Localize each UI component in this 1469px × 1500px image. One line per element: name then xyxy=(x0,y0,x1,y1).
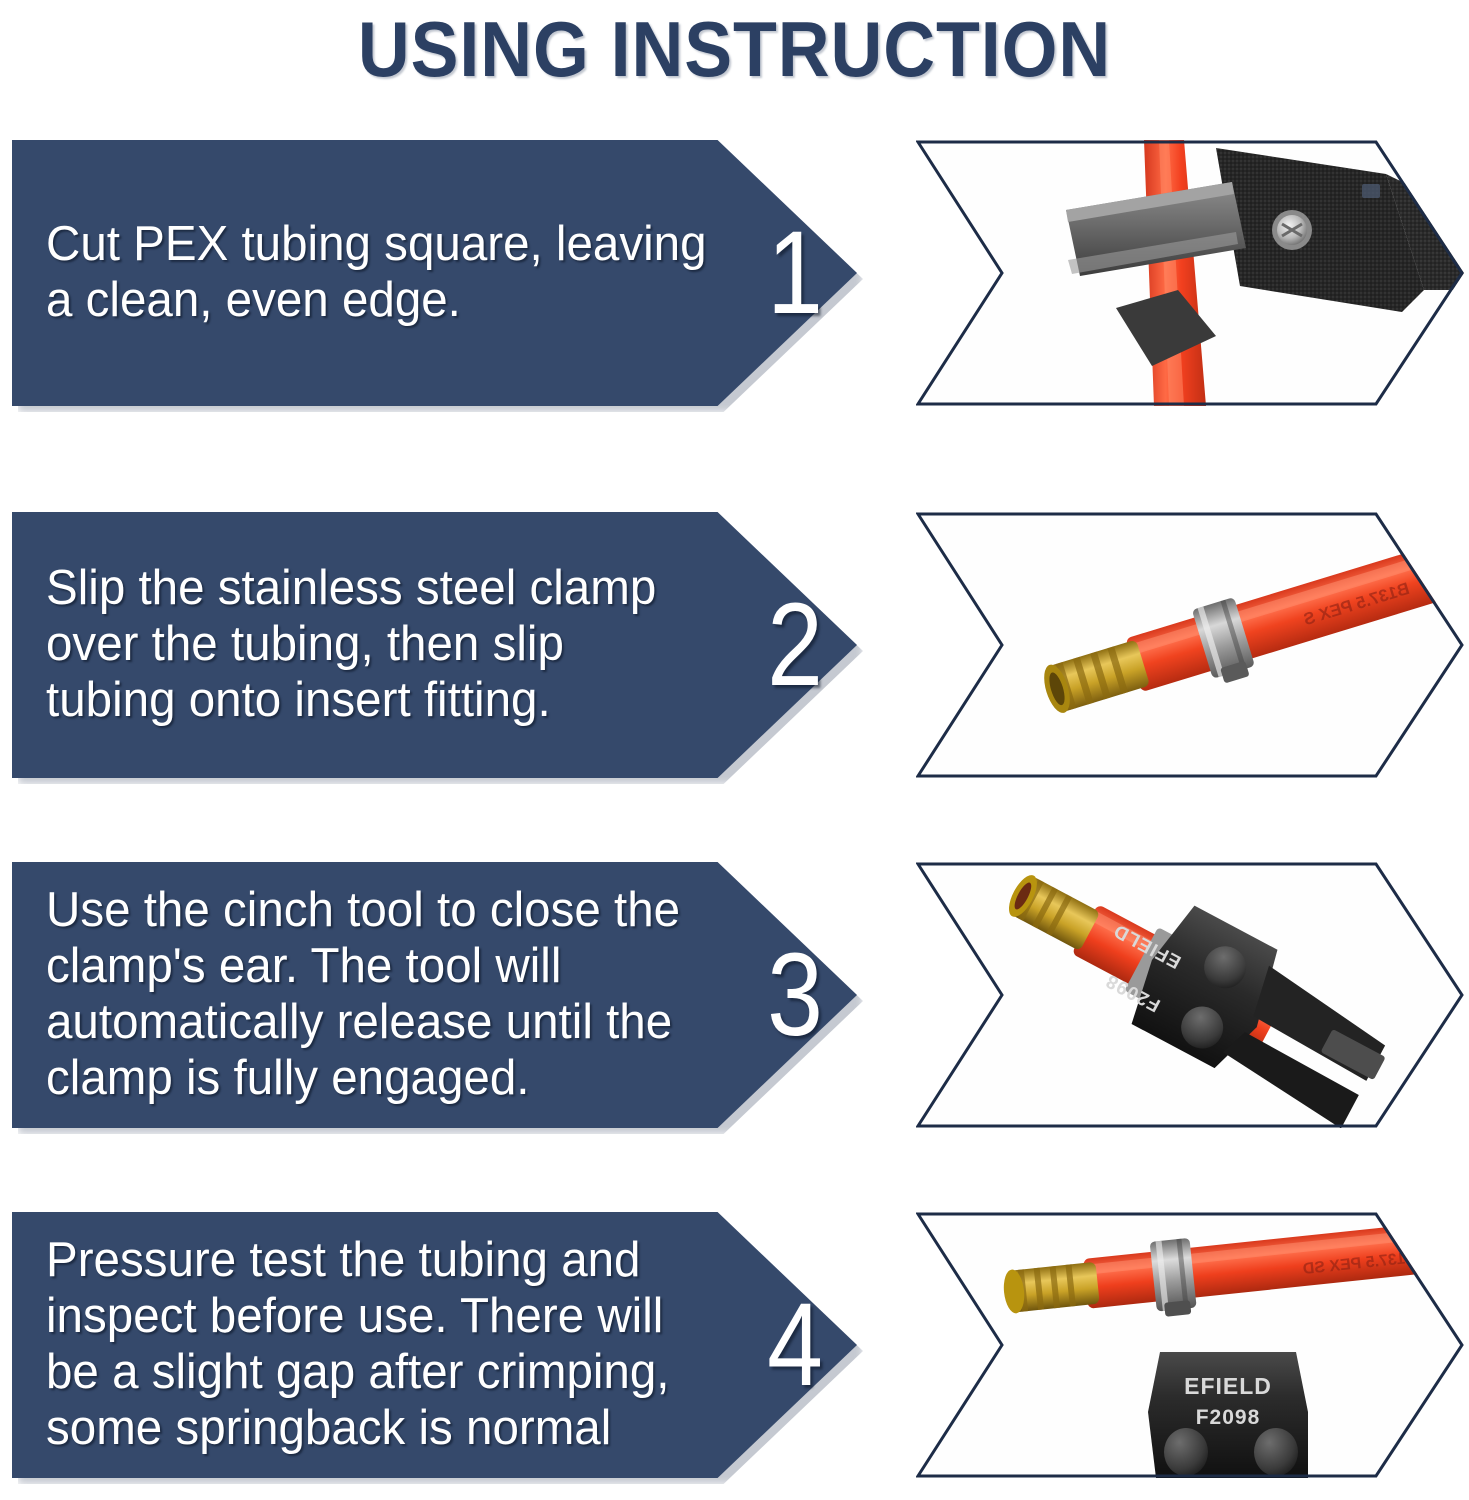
step-text-line: be a slight gap after crimping, xyxy=(46,1345,686,1401)
step-row: Cut PEX tubing square, leaving a clean, … xyxy=(0,140,1469,408)
step-text-line: automatically release until the xyxy=(46,995,686,1051)
step-number-2: 2 xyxy=(748,512,842,778)
step-text-2: Slip the stainless steel clamp over the … xyxy=(46,512,686,778)
step-photo-1 xyxy=(916,140,1464,406)
step-text-line: Pressure test the tubing and xyxy=(46,1233,686,1289)
tool-brand-label: EFIELD xyxy=(1184,1373,1272,1399)
step-number-1: 1 xyxy=(748,140,842,406)
step-text-line: Cut PEX tubing square, leaving xyxy=(46,217,686,273)
step-text-line: Use the cinch tool to close the xyxy=(46,883,686,939)
step-text-line: Slip the stainless steel clamp xyxy=(46,561,686,617)
step-row: Slip the stainless steel clamp over the … xyxy=(0,512,1469,780)
step-photo-3: EFIELD F2098 xyxy=(916,862,1464,1128)
page-title: USING INSTRUCTION xyxy=(59,4,1410,95)
step-text-line: some springback is normal xyxy=(46,1401,686,1457)
step-number-3: 3 xyxy=(748,862,842,1128)
step-text-4: Pressure test the tubing and inspect bef… xyxy=(46,1212,686,1478)
pex-cutter-illustration xyxy=(916,140,1464,406)
tool-model-label: F2098 xyxy=(1196,1406,1261,1429)
step-text-3: Use the cinch tool to close the clamp's … xyxy=(46,862,686,1128)
step-text-line: clamp's ear. The tool will xyxy=(46,939,686,995)
cinch-tool-illustration: EFIELD F2098 xyxy=(916,862,1464,1128)
step-photo-2: B137.5 PEX S xyxy=(916,512,1464,778)
step-text-line: tubing onto insert fitting. xyxy=(46,673,686,729)
step-text-line: clamp is fully engaged. xyxy=(46,1051,686,1107)
step-text-line: inspect before use. There will xyxy=(46,1289,686,1345)
photo-clip xyxy=(916,140,1464,406)
step-row: Use the cinch tool to close the clamp's … xyxy=(0,862,1469,1130)
photo-clip: EFIELD F2098 xyxy=(916,862,1464,1128)
step-text-line: over the tubing, then slip xyxy=(46,617,686,673)
step-text-line: a clean, even edge. xyxy=(46,273,686,329)
crimped-clamp-and-tool-head-illustration: CSA B137.5 PEX SD xyxy=(916,1212,1464,1478)
step-row: Pressure test the tubing and inspect bef… xyxy=(0,1212,1469,1480)
clamp-on-fitting-illustration: B137.5 PEX S xyxy=(916,512,1464,778)
step-number-4: 4 xyxy=(748,1212,842,1478)
step-photo-4: CSA B137.5 PEX SD xyxy=(916,1212,1464,1478)
photo-clip: CSA B137.5 PEX SD xyxy=(916,1212,1464,1478)
photo-clip: B137.5 PEX S xyxy=(916,512,1464,778)
step-text-1: Cut PEX tubing square, leaving a clean, … xyxy=(46,140,686,406)
